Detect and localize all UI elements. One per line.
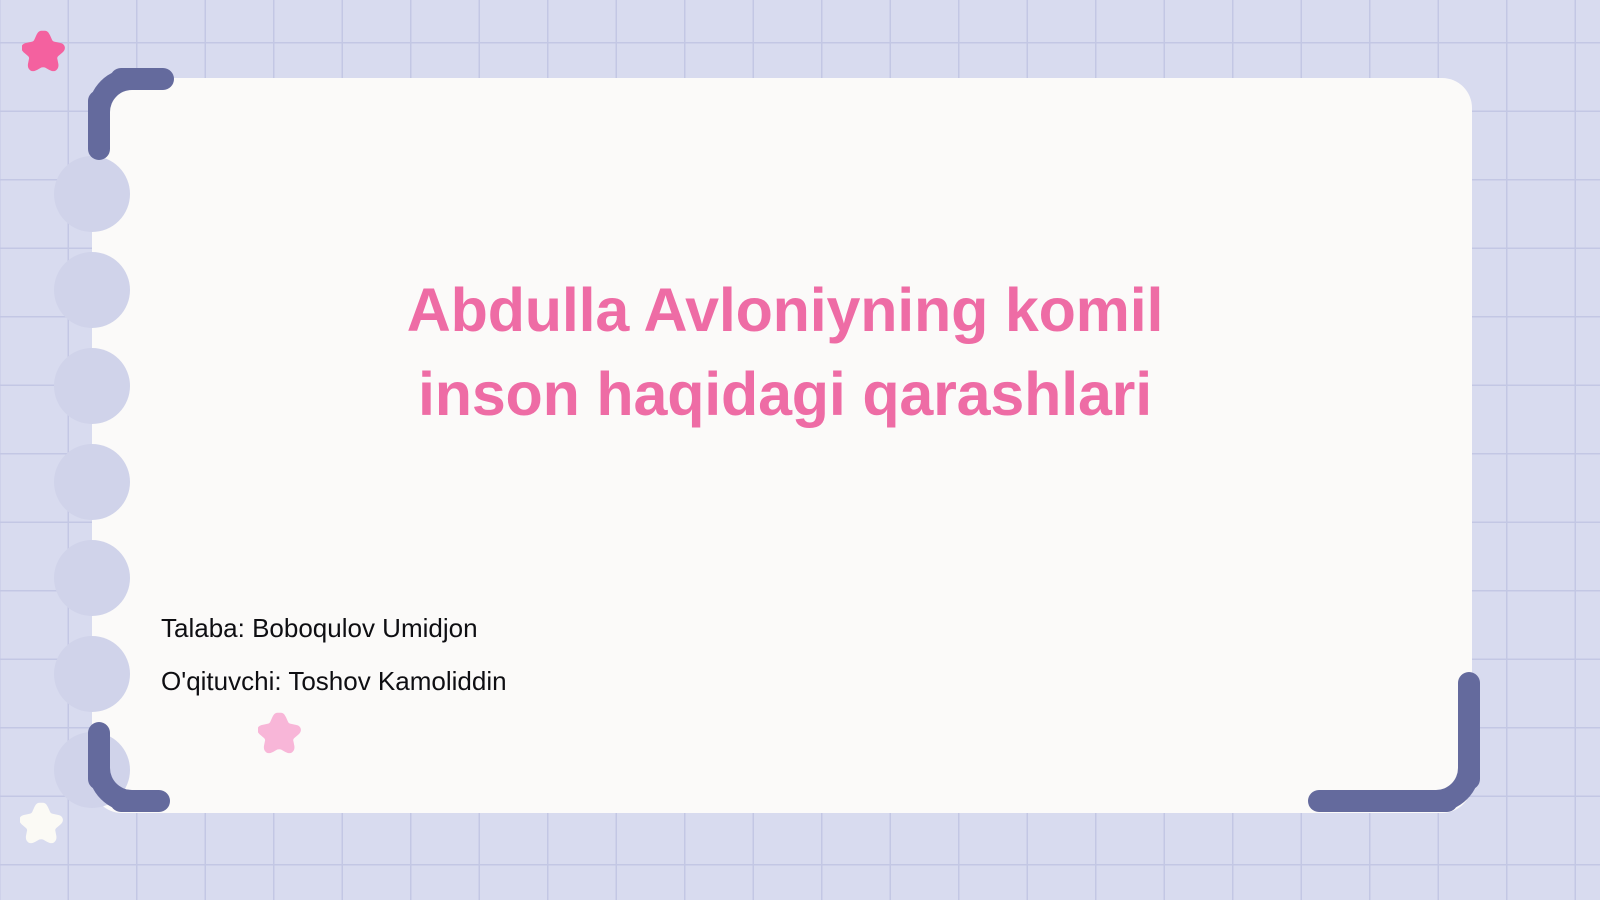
slide-title: Abdulla Avloniyning komil inson haqidagi… — [190, 268, 1380, 436]
student-name-line: Talaba: Boboqulov Umidjon — [161, 612, 478, 644]
corner-bracket-bottom-left — [88, 722, 170, 812]
corner-bracket-top-left — [88, 68, 174, 160]
presentation-slide: Abdulla Avloniyning komil inson haqidagi… — [0, 0, 1600, 900]
corner-bracket-bottom-right — [1308, 672, 1480, 812]
star-icon-middle — [258, 710, 304, 756]
teacher-name-line: O'qituvchi: Toshov Kamoliddin — [161, 665, 507, 697]
star-icon-top-left — [22, 28, 68, 74]
star-icon-bottom-left — [20, 800, 66, 846]
slide-content-card — [92, 78, 1472, 813]
